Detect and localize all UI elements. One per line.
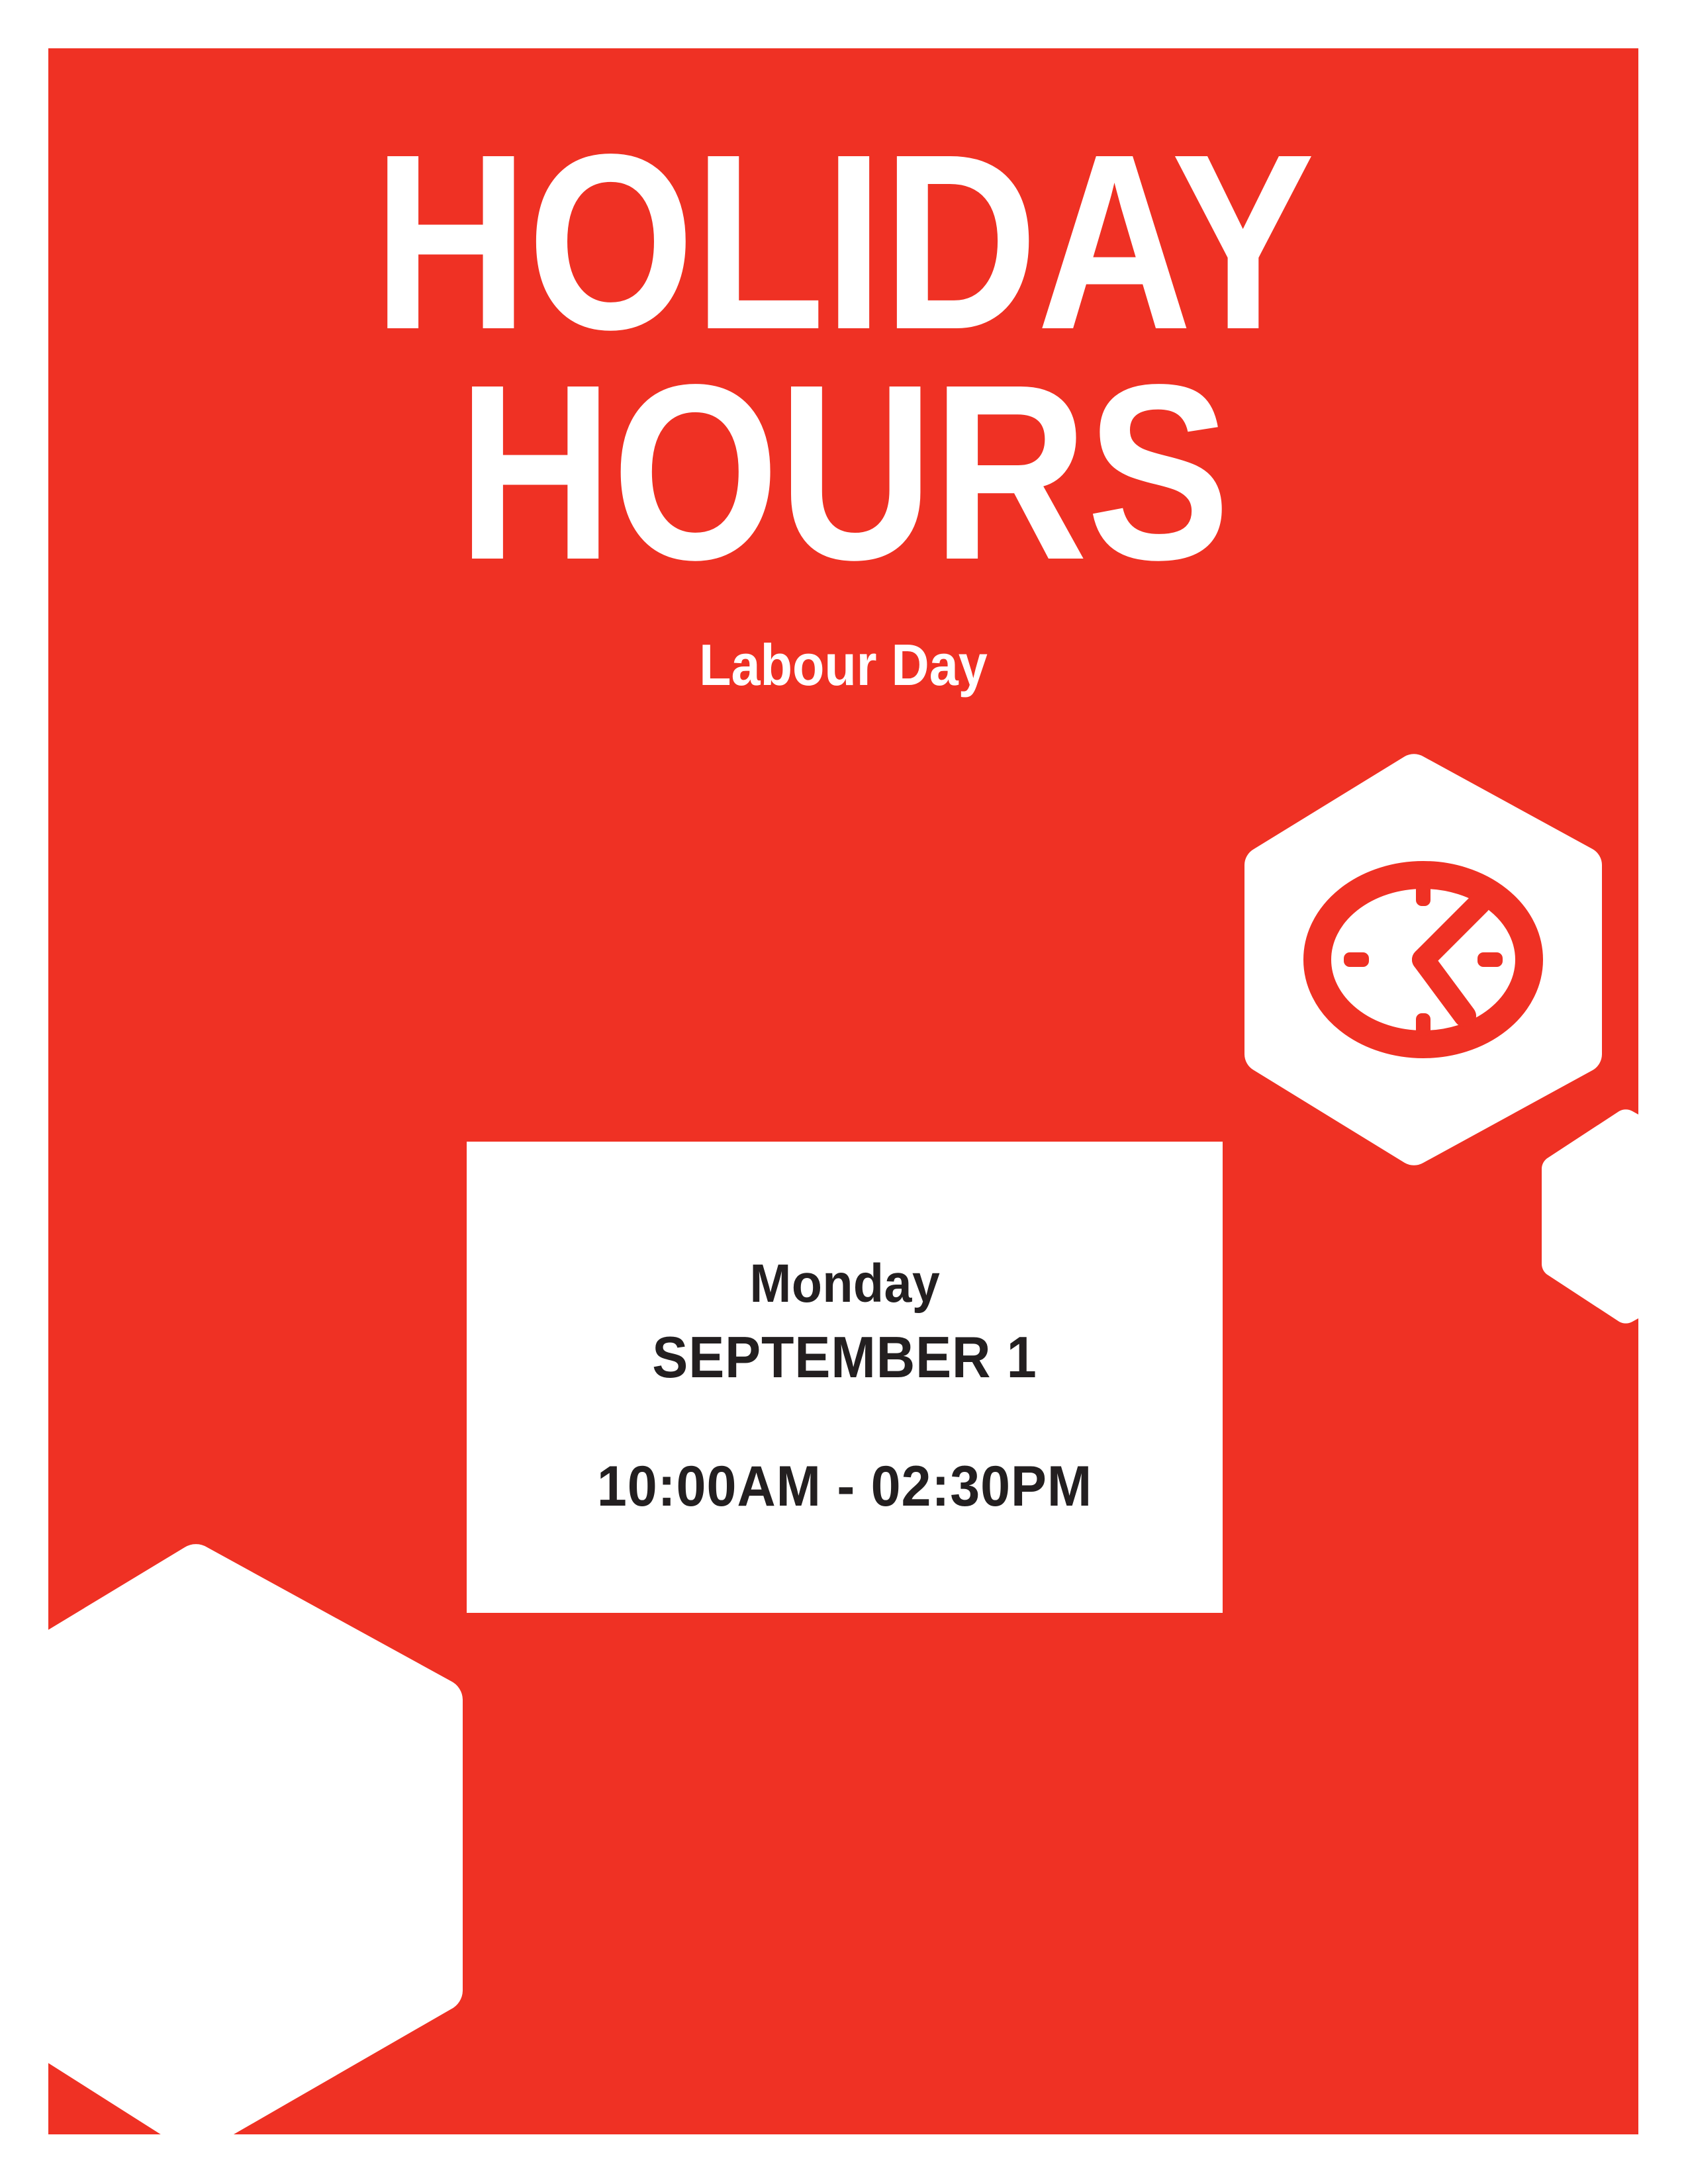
headline-line-1: HOLIDAY bbox=[160, 128, 1527, 358]
poster-canvas: HOLIDAY HOURS Labour Day bbox=[0, 0, 1688, 2184]
hexagon-accent-large bbox=[48, 1541, 472, 2134]
hexagon-small-icon bbox=[1536, 1107, 1638, 1326]
clock-tick-3 bbox=[1477, 952, 1503, 967]
card-time-label: 10:00AM - 02:30PM bbox=[597, 1457, 1092, 1516]
red-background-panel: HOLIDAY HOURS Labour Day bbox=[48, 48, 1638, 2134]
holiday-hours-card: Monday SEPTEMBER 1 10:00AM - 02:30PM bbox=[467, 1142, 1223, 1613]
headline-subtitle: Labour Day bbox=[128, 636, 1559, 694]
card-date-label: SEPTEMBER 1 bbox=[652, 1327, 1037, 1388]
hexagon-large-icon bbox=[48, 1541, 472, 2134]
clock-tick-12 bbox=[1416, 884, 1430, 906]
card-day-label: Monday bbox=[749, 1255, 940, 1312]
headline-line-2: HOURS bbox=[160, 358, 1527, 588]
clock-tick-6 bbox=[1416, 1013, 1430, 1036]
hexagon-accent-small bbox=[1536, 1107, 1638, 1326]
clock-tick-9 bbox=[1344, 952, 1369, 967]
clock-hexagon-badge bbox=[1238, 751, 1609, 1168]
hexagon-badge-icon bbox=[1238, 751, 1609, 1168]
headline-block: HOLIDAY HOURS Labour Day bbox=[48, 128, 1638, 694]
